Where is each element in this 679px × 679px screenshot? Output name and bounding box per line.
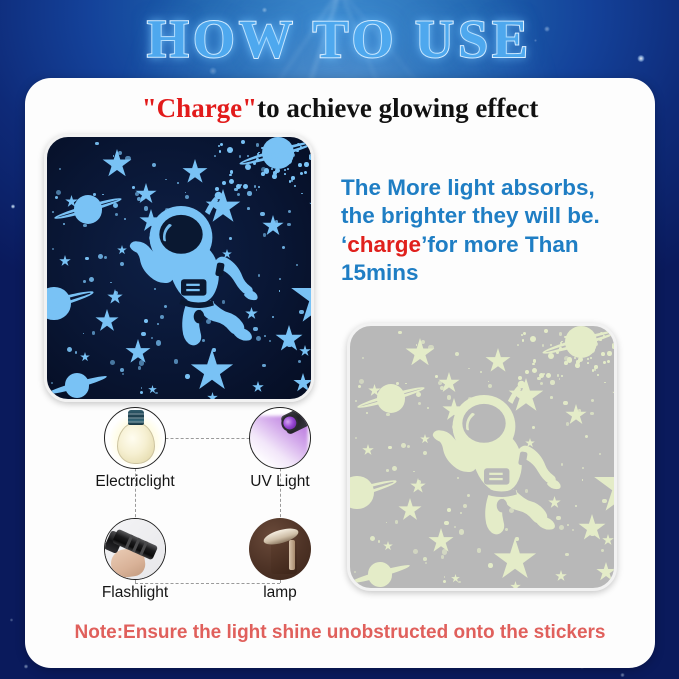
- headline-rest: to achieve glowing effect: [257, 93, 538, 123]
- star-dot: [355, 437, 357, 439]
- star-dot: [590, 412, 594, 416]
- star-dot: [590, 532, 594, 536]
- star-cluster-dot: [532, 363, 534, 365]
- star-dot: [260, 212, 265, 217]
- star-dot: [92, 331, 96, 335]
- star-dot: [386, 522, 388, 524]
- paragraph-line-4: 15mins: [341, 259, 641, 287]
- star-cluster-dot: [229, 174, 231, 176]
- star-cluster-dot: [245, 164, 251, 170]
- star-dot: [386, 413, 390, 417]
- star-cluster-dot: [603, 361, 606, 364]
- star-sticker: [275, 325, 303, 353]
- paragraph-line-3-rest: for more Than: [427, 232, 578, 257]
- star-dot: [269, 340, 271, 342]
- background-star: [24, 664, 28, 668]
- star-dot: [263, 233, 267, 237]
- star-dot: [362, 357, 365, 360]
- star-dot: [582, 479, 584, 481]
- star-sticker: [383, 541, 393, 551]
- star-cluster-dot: [300, 172, 303, 175]
- star-dot: [104, 256, 107, 259]
- star-dot: [52, 211, 54, 213]
- star-cluster-dot: [530, 336, 536, 342]
- star-cluster-dot: [313, 162, 314, 166]
- flashlight-label: Flashlight: [45, 584, 225, 602]
- flashlight-icon[interactable]: [104, 518, 166, 580]
- star-dot: [67, 347, 72, 352]
- star-cluster-dot: [607, 360, 610, 363]
- star-cluster-dot: [261, 172, 264, 175]
- star-dot: [395, 520, 399, 524]
- star-dot: [413, 549, 418, 554]
- note-text: Note:Ensure the light shine unobstructed…: [25, 622, 655, 644]
- star-dot: [287, 343, 291, 347]
- star-sticker: [290, 267, 314, 327]
- glow-sticker-scene: [350, 326, 614, 588]
- star-dot: [298, 360, 301, 363]
- star-cluster-dot: [533, 359, 537, 363]
- star-cluster-dot: [612, 345, 615, 348]
- star-dot: [275, 220, 279, 224]
- star-dot: [301, 193, 303, 195]
- star-sticker: [405, 338, 435, 368]
- light-sources-diagram: Electriclight UV Light Flashlight lamp: [25, 418, 355, 648]
- star-dot: [566, 422, 570, 426]
- star-dot: [550, 344, 552, 346]
- star-sticker: [299, 345, 311, 357]
- star-dot: [83, 224, 87, 228]
- star-cluster-dot: [312, 171, 314, 174]
- star-dot: [444, 576, 446, 578]
- star-dot: [299, 310, 304, 315]
- star-dot: [247, 155, 249, 157]
- star-cluster-dot: [575, 363, 580, 368]
- star-dot: [572, 529, 574, 531]
- lamp-icon[interactable]: [249, 518, 311, 580]
- star-cluster-dot: [522, 339, 524, 341]
- star-dot: [89, 277, 94, 282]
- star-dot: [120, 368, 124, 372]
- star-cluster-dot: [304, 162, 309, 167]
- star-cluster-dot: [564, 361, 567, 364]
- paragraph-charge-word: charge: [347, 232, 421, 257]
- star-dot: [542, 344, 544, 346]
- star-sticker: [102, 149, 132, 179]
- star-dot: [517, 344, 519, 346]
- star-dot: [585, 435, 589, 439]
- star-dot: [83, 280, 86, 283]
- instruction-paragraph: The More light absorbs, the brighter the…: [341, 174, 641, 287]
- paragraph-line-2: the brighter they will be.: [341, 202, 641, 230]
- star-dot: [477, 548, 482, 553]
- planet-sticker: [65, 195, 111, 224]
- star-cluster-dot: [313, 186, 314, 190]
- star-sticker: [293, 373, 313, 393]
- star-dot: [442, 549, 447, 554]
- electriclight-icon[interactable]: [104, 407, 166, 469]
- star-cluster-dot: [219, 150, 221, 152]
- planet-sticker: [57, 373, 97, 398]
- star-sticker: [596, 562, 616, 582]
- star-sticker: [612, 388, 617, 399]
- star-dot: [575, 505, 578, 508]
- star-dot: [264, 335, 266, 337]
- star-dot: [578, 409, 582, 413]
- star-cluster-dot: [594, 365, 598, 369]
- star-cluster-dot: [616, 351, 617, 355]
- star-dot: [138, 366, 141, 369]
- star-dot: [386, 469, 389, 472]
- star-cluster-dot: [272, 174, 277, 179]
- star-dot: [591, 399, 594, 402]
- star-dot: [83, 333, 85, 335]
- star-dot: [488, 563, 492, 567]
- paragraph-line-1: The More light absorbs,: [341, 174, 641, 202]
- star-dot: [401, 443, 406, 448]
- star-dot: [563, 401, 568, 406]
- star-dot: [455, 352, 459, 356]
- star-dot: [98, 254, 103, 259]
- star-cluster-dot: [616, 375, 617, 379]
- star-dot: [85, 257, 88, 260]
- star-dot: [282, 246, 286, 250]
- star-dot: [279, 290, 281, 292]
- star-dot: [209, 360, 211, 362]
- star-dot: [441, 555, 444, 558]
- star-dot: [52, 248, 54, 250]
- astronaut-sticker: [109, 185, 259, 357]
- star-dot: [398, 331, 402, 335]
- star-dot: [287, 223, 291, 227]
- planet-sticker: [44, 287, 81, 320]
- star-sticker: [309, 199, 314, 210]
- background-star: [11, 204, 15, 208]
- star-dot: [512, 549, 514, 551]
- uv-light-icon[interactable]: [249, 407, 311, 469]
- star-cluster-dot: [227, 147, 233, 153]
- star-sticker: [485, 348, 511, 374]
- star-dot: [355, 328, 357, 330]
- star-dot: [241, 140, 245, 144]
- star-dot: [52, 139, 54, 141]
- star-dot: [388, 446, 391, 449]
- star-dot: [140, 391, 143, 394]
- star-cluster-dot: [291, 176, 295, 180]
- star-dot: [214, 155, 216, 157]
- star-dot: [95, 142, 99, 146]
- headline: "Charge"to achieve glowing effect: [25, 93, 655, 124]
- star-sticker: [593, 456, 617, 516]
- star-dot: [421, 340, 425, 344]
- star-dot: [155, 392, 158, 395]
- planet-sticker: [252, 137, 304, 169]
- lamp-label: lamp: [220, 584, 340, 602]
- star-sticker: [182, 159, 208, 185]
- star-dot: [216, 381, 218, 383]
- star-cluster-dot: [230, 170, 234, 174]
- background-star: [620, 673, 624, 677]
- star-cluster-dot: [587, 362, 589, 364]
- star-sticker: [207, 392, 218, 402]
- star-sticker: [59, 255, 71, 267]
- star-dot: [122, 373, 124, 375]
- headline-quoted: "Charge": [142, 93, 257, 123]
- star-cluster-dot: [284, 173, 286, 175]
- background-star: [10, 618, 13, 621]
- star-cluster-dot: [229, 179, 234, 184]
- star-cluster-dot: [220, 143, 223, 146]
- star-sticker: [578, 514, 606, 542]
- star-dot: [51, 382, 53, 384]
- star-cluster-dot: [304, 171, 307, 174]
- star-dot: [56, 190, 61, 195]
- star-dot: [185, 374, 189, 378]
- star-dot: [296, 264, 298, 266]
- bulb-glass: [117, 422, 155, 464]
- star-dot: [239, 155, 241, 157]
- star-dot: [582, 467, 584, 469]
- star-dot: [599, 453, 601, 455]
- star-dot: [458, 581, 461, 584]
- star-dot: [416, 344, 418, 346]
- star-dot: [407, 445, 410, 448]
- star-dot: [279, 278, 281, 280]
- star-dot: [602, 499, 607, 504]
- uv-light-label: UV Light: [200, 473, 360, 491]
- star-cluster-dot: [597, 374, 599, 376]
- star-cluster-dot: [548, 353, 554, 359]
- star-dot: [55, 196, 58, 199]
- star-dot: [601, 549, 604, 552]
- star-dot: [443, 580, 446, 583]
- paragraph-line-3: ‘charge’for more Than: [341, 231, 641, 259]
- charging-sticker-panel: [44, 134, 314, 402]
- star-dot: [392, 466, 397, 471]
- star-cluster-dot: [615, 360, 617, 363]
- page-title: HOW TO USE: [0, 8, 679, 70]
- star-dot: [425, 562, 427, 564]
- star-cluster-dot: [532, 368, 537, 373]
- star-dot: [113, 155, 115, 157]
- lamp-stem: [289, 540, 295, 570]
- star-sticker: [555, 570, 567, 582]
- star-sticker: [510, 581, 521, 591]
- star-dot: [565, 553, 568, 556]
- planet-sticker: [555, 326, 607, 358]
- star-dot: [165, 179, 167, 181]
- dark-sticker-scene: [47, 137, 311, 399]
- glowing-sticker-panel: [347, 323, 617, 591]
- star-dot: [110, 360, 115, 365]
- star-cluster-dot: [523, 332, 526, 335]
- star-dot: [468, 368, 470, 370]
- star-dot: [355, 400, 357, 402]
- planet-sticker: [368, 384, 414, 413]
- planet-sticker: [360, 562, 400, 587]
- star-dot: [75, 351, 78, 354]
- star-dot: [544, 329, 548, 333]
- star-dot: [272, 316, 275, 319]
- star-dot: [174, 359, 179, 364]
- star-sticker: [80, 352, 90, 362]
- star-dot: [378, 540, 381, 543]
- star-dot: [359, 379, 364, 384]
- star-sticker: [362, 444, 374, 456]
- star-dot: [370, 536, 375, 541]
- star-dot: [358, 385, 361, 388]
- star-sticker: [252, 381, 264, 393]
- star-cluster-dot: [607, 351, 612, 356]
- star-dot: [423, 557, 427, 561]
- star-dot: [604, 382, 606, 384]
- star-cluster-dot: [309, 156, 312, 159]
- astronaut-sticker: [412, 374, 562, 546]
- instruction-card: "Charge"to achieve glowing effect The Mo…: [25, 78, 655, 668]
- star-dot: [118, 151, 122, 155]
- star-cluster-dot: [294, 185, 296, 187]
- star-dot: [59, 168, 62, 171]
- star-dot: [288, 210, 291, 213]
- star-dot: [262, 364, 265, 367]
- star-dot: [141, 387, 143, 389]
- bulb-screw-base: [128, 410, 144, 425]
- star-sticker: [602, 534, 614, 546]
- star-dot: [567, 524, 569, 526]
- star-dot: [139, 360, 144, 365]
- star-dot: [152, 163, 156, 167]
- star-dot: [519, 570, 521, 572]
